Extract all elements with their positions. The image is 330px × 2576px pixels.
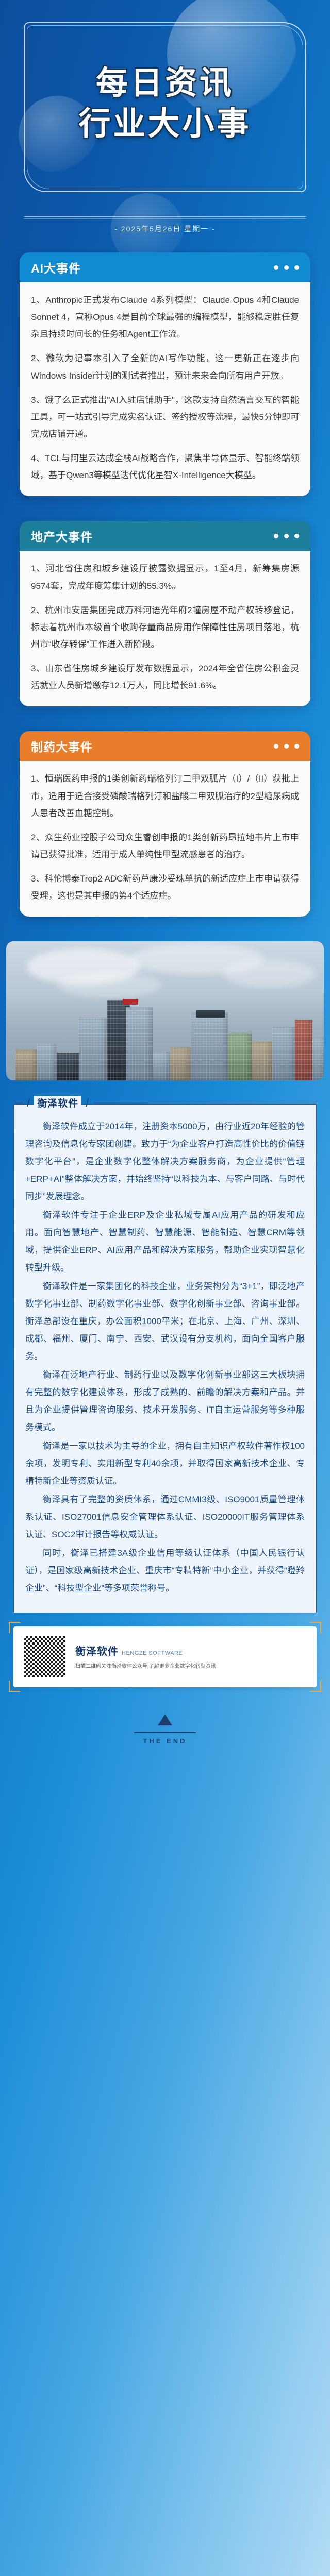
building [191,1012,228,1080]
company-section: / 衡泽软件 / 衡泽软件成立于2014年，注册资本5000万，由行业近20年经… [0,1080,330,1613]
footer-section: 衡泽软件 HENGZE SOFTWARE 扫描二维码关注衡泽软件公众号 了解更多… [0,1613,330,1766]
dot-icon [274,265,278,270]
dot-icon [284,265,289,270]
poster-page: 每日资讯 行业大小事 - 2025年5月26日 星期一 - AI大事件 1、An… [0,0,330,2576]
photo-section [0,941,330,1080]
company-paragraph: 衡泽软件成立于2014年，注册资本5000万，由行业近20年经验的管理咨询及信息… [25,1118,305,1206]
hero-banner: 每日资讯 行业大小事 - 2025年5月26日 星期一 - [0,0,330,252]
news-item: 3、山东省住房城乡建设厅发布数据显示，2024年全省住房公积金灵活就业人员新增缴… [31,660,299,694]
corner-bracket-icon [310,1622,321,1633]
card-dots-decoration [274,744,299,749]
heading-dash [15,1103,23,1103]
news-item: 1、Anthropic正式发布Claude 4系列模型：Claude Opus … [31,292,299,343]
building [37,1043,57,1080]
hero-title-group: 每日资讯 行业大小事 [0,64,330,142]
rooftop-sign [123,999,138,1005]
building [57,1053,79,1080]
company-section-heading: / 衡泽软件 / [13,1096,317,1110]
news-card: 制药大事件 1、恒瑞医药申报的1类创新药瑞格列汀二甲双胍片（I）/（II）获批上… [20,731,310,917]
building [15,1049,37,1080]
company-paragraph: 同时，衡泽已搭建3A级企业信用等级认证体系（中国人民银行认证），是国家级高新技术… [25,1545,305,1597]
card-body: 1、Anthropic正式发布Claude 4系列模型：Claude Opus … [20,282,310,496]
company-paragraph: 衡泽是一家以技术为主导的企业，拥有自主知识产权软件著作权100余项，发明专利、实… [25,1437,305,1490]
triangle-icon [158,1714,172,1725]
news-item: 4、TCL与阿里云达成全栈AI战略合作，聚焦半导体显示、智能终端领域，基于Qwe… [31,450,299,484]
page-title-line2: 行业大小事 [0,105,330,142]
company-paragraph: 衡泽软件是一家集团化的科技企业，业务架构分为“3+1”，即泛地产数字化事业部、制… [25,1278,305,1365]
hero-divider-1 [24,216,306,217]
building [78,1018,107,1080]
news-item: 1、恒瑞医药申报的1类创新药瑞格列汀二甲双胍片（I）/（II）获批上市，适用于适… [31,770,299,821]
end-rule [134,1732,196,1733]
cityscape-photo [6,941,324,1080]
qr-description: 扫描二维码关注衡泽软件公众号 了解更多企业数字化转型资讯 [75,1662,307,1671]
page-title-line1: 每日资讯 [0,64,330,101]
news-card: AI大事件 1、Anthropic正式发布Claude 4系列模型：Claude… [20,252,310,496]
brand-lockup: 衡泽软件 HENGZE SOFTWARE [75,1643,307,1658]
cloud-shape [223,960,316,988]
dot-icon [284,744,289,749]
cloud-shape [58,972,161,998]
building [312,1036,324,1080]
heading-rule [94,1103,317,1103]
news-item: 3、饿了么正式推出"AI入驻店铺助手"，这款支持自然语言交互的智能工具，可一站式… [31,392,299,443]
building [228,1033,252,1080]
card-dots-decoration [274,534,299,538]
building [153,1052,170,1080]
news-card-list: AI大事件 1、Anthropic正式发布Claude 4系列模型：Claude… [0,252,330,917]
dot-icon [294,534,299,538]
hero-divider-2 [24,218,306,219]
news-item: 2、众生药业控股子公司众生睿创申报的1类创新药昂拉地韦片上市申请已获得批准，适用… [31,829,299,863]
building [252,1041,272,1080]
brand-name-en: HENGZE SOFTWARE [122,1650,183,1656]
brand-name-cn: 衡泽软件 [75,1643,119,1658]
dot-icon [294,744,299,749]
company-intro-box: 衡泽软件成立于2014年，注册资本5000万，由行业近20年经验的管理咨询及信息… [13,1104,317,1613]
decor-circle-small [111,193,183,252]
dot-icon [274,534,278,538]
news-item: 2、杭州市安居集团完成万科河语光年府2幢房屋不动产权转移登记，标志着杭州市本级首… [31,602,299,653]
qr-text-block: 衡泽软件 HENGZE SOFTWARE 扫描二维码关注衡泽软件公众号 了解更多… [75,1643,307,1671]
end-marker: THE END [13,1714,317,1745]
company-name: 衡泽软件 [34,1096,81,1110]
dot-icon [284,534,289,538]
card-title: 地产大事件 [31,527,93,545]
end-label: THE END [13,1737,317,1745]
dot-icon [294,265,299,270]
corner-bracket-icon [310,1681,321,1692]
card-title: AI大事件 [31,259,81,276]
qr-code-image[interactable] [23,1635,67,1679]
slash-icon: / [86,1097,89,1109]
dot-icon [274,744,278,749]
card-title: 制药大事件 [31,737,93,755]
publish-date: - 2025年5月26日 星期一 - [0,224,330,234]
company-paragraph: 衡泽在泛地产行业、制药行业以及数字化创新事业部这三大板块拥有完整的数字化建设体系… [25,1366,305,1436]
qr-card[interactable]: 衡泽软件 HENGZE SOFTWARE 扫描二维码关注衡泽软件公众号 了解更多… [13,1626,317,1687]
card-dots-decoration [274,265,299,270]
company-paragraph: 衡泽软件专注于企业ERP及企业私域专属AI应用产品的研发和应用。面向智慧地产、智… [25,1207,305,1277]
news-item: 3、科伦博泰Trop2 ADC新药芦康沙妥珠单抗的新适应症上市申请获得受理，这也… [31,870,299,904]
corner-bracket-icon [9,1681,20,1692]
building [295,1020,312,1080]
building [272,1027,295,1080]
rooftop-sign [196,1010,225,1018]
building [170,1047,191,1080]
corner-bracket-icon [9,1622,20,1633]
news-item: 1、河北省住房和城乡建设厅披露数据显示，1至4月，新筹集房源9574套，完成年度… [31,560,299,594]
slash-icon: / [27,1097,30,1109]
card-header: AI大事件 [20,252,310,282]
building [126,1007,153,1080]
news-item: 2、微软为记事本引入了全新的AI写作功能，这一更新正在逐步向Windows In… [31,350,299,384]
card-header: 制药大事件 [20,731,310,761]
news-card: 地产大事件 1、河北省住房和城乡建设厅披露数据显示，1至4月，新筹集房源9574… [20,521,310,706]
card-body: 1、河北省住房和城乡建设厅披露数据显示，1至4月，新筹集房源9574套，完成年度… [20,551,310,706]
card-body: 1、恒瑞医药申报的1类创新药瑞格列汀二甲双胍片（I）/（II）获批上市，适用于适… [20,761,310,917]
card-header: 地产大事件 [20,521,310,551]
company-paragraph: 衡泽具有了完整的资质体系，通过CMMI3级、ISO9001质量管理体系认证、IS… [25,1491,305,1544]
